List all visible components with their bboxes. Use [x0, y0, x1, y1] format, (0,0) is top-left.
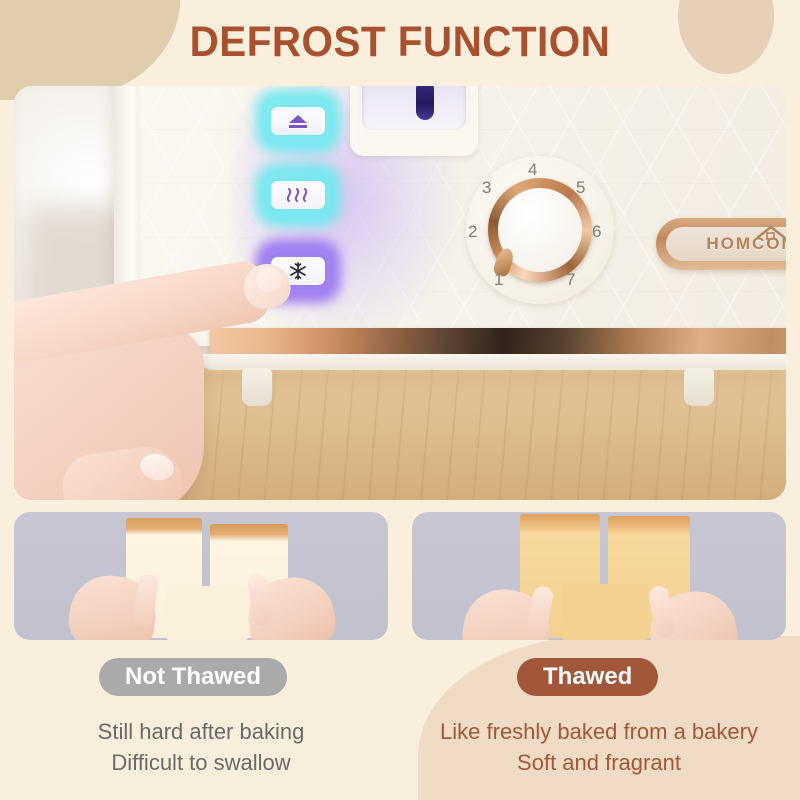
dial-number-3: 3: [482, 178, 491, 198]
reheat-button-cap: [271, 181, 325, 209]
product-feature-infographic: DEFROST FUNCTION: [0, 0, 800, 800]
dial-number-6: 6: [592, 222, 601, 242]
bread-hands-illustration: [412, 512, 786, 640]
pressing-hand: [14, 272, 304, 500]
caption-line-2: Difficult to swallow: [14, 747, 388, 778]
comparison-panel-not-thawed: Not Thawed Still hard after baking Diffi…: [14, 512, 388, 640]
status-badge-not-thawed: Not Thawed: [99, 658, 287, 696]
slider-icon[interactable]: [416, 86, 434, 120]
caption-thawed: Like freshly baked from a bakery Soft an…: [412, 716, 786, 778]
comparison-panel-thawed: Thawed Like freshly baked from a bakery …: [412, 512, 786, 640]
dial-number-5: 5: [576, 178, 585, 198]
status-badge-thawed: Thawed: [517, 658, 658, 696]
caption-line-1: Like freshly baked from a bakery: [412, 716, 786, 747]
caption-line-2: Soft and fragrant: [412, 747, 786, 778]
house-roof-icon: [754, 224, 786, 245]
brand-badge-inner: HOMCOM: [666, 227, 786, 261]
bread-hands-illustration: [14, 512, 388, 640]
eject-button-cap: [271, 107, 325, 135]
dial-number-7: 7: [566, 270, 575, 290]
dial-number-2: 2: [468, 222, 477, 242]
caption-not-thawed: Still hard after baking Difficult to swa…: [14, 716, 388, 778]
hero-photo: 1 2 3 4 5 6 7 HOMCOM: [14, 86, 786, 500]
not-thawed-bread-photo: [14, 512, 388, 640]
bread-join: [166, 586, 248, 640]
caption-line-1: Still hard after baking: [14, 716, 388, 747]
thawed-bread-photo: [412, 512, 786, 640]
reheat-icon: [283, 186, 313, 204]
dial-number-4: 4: [528, 160, 537, 180]
brand-badge: HOMCOM: [656, 218, 786, 270]
eject-icon: [285, 112, 311, 130]
browning-control-dial[interactable]: 1 2 3 4 5 6 7: [466, 156, 614, 304]
toaster-foot-right: [684, 368, 714, 406]
carriage-lever-housing: [350, 86, 478, 156]
bread-join: [562, 584, 648, 640]
page-title: DEFROST FUNCTION: [24, 18, 776, 67]
reheat-button[interactable]: [266, 174, 330, 216]
eject-button[interactable]: [266, 100, 330, 142]
lever-recess: [362, 86, 466, 130]
dial-number-1: 1: [494, 270, 503, 290]
